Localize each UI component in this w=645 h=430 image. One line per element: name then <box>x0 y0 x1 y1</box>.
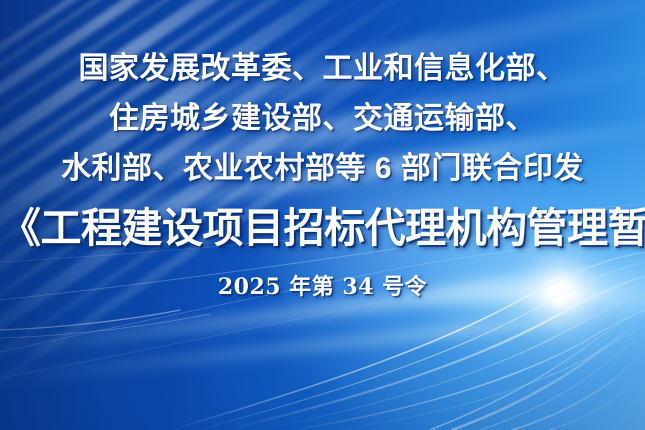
policy-announcement-banner: 国家发展改革委、工业和信息化部、 住房城乡建设部、交通运输部、 水利部、农业农村… <box>0 0 645 430</box>
headline-line-3: 水利部、农业农村部等 6 部门联合印发 <box>0 150 645 188</box>
decree-number: 2025 年第 34 号令 <box>0 272 645 302</box>
document-title: 《工程建设项目招标代理机构管理暂行办法》 <box>0 203 645 253</box>
headline-line-2: 住房城乡建设部、交通运输部、 <box>0 100 645 138</box>
headline-line-1: 国家发展改革委、工业和信息化部、 <box>0 50 645 88</box>
banner-text-content: 国家发展改革委、工业和信息化部、 住房城乡建设部、交通运输部、 水利部、农业农村… <box>0 0 645 430</box>
